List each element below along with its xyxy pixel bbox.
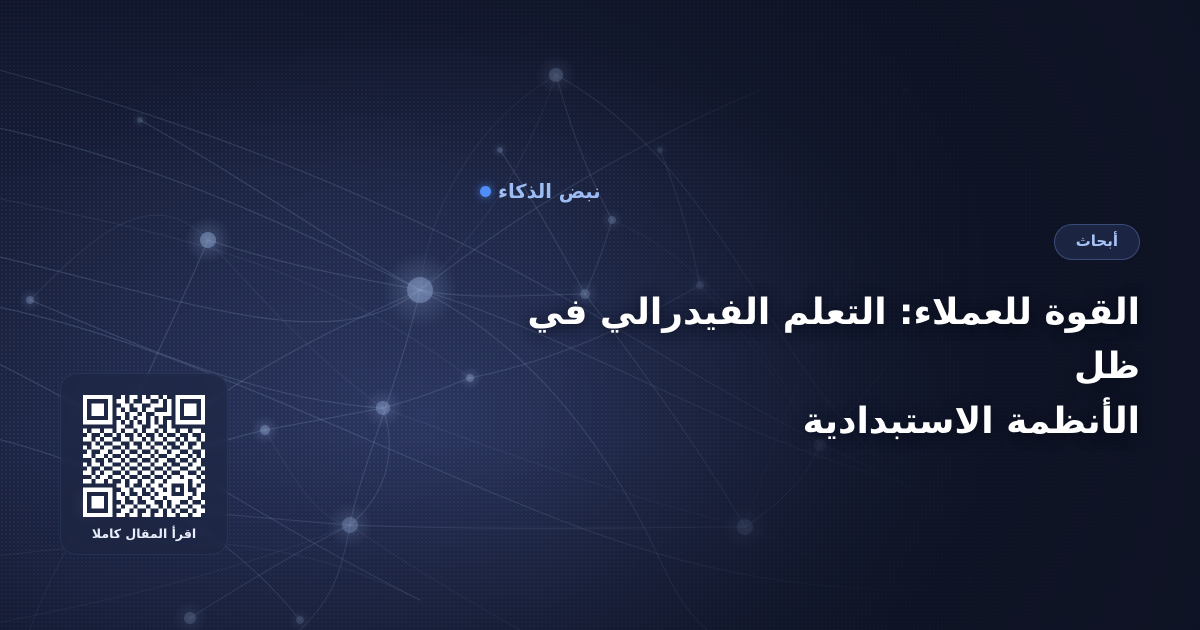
article-title-line-2: الأنظمة الاستبدادية [480,395,1140,450]
article-title: القوة للعملاء: التعلم الفيدرالي في ظل ال… [480,286,1140,450]
social-share-card: نبض الذكاء أبحاث القوة للعملاء: التعلم ا… [0,0,1200,630]
qr-code-image[interactable] [83,395,205,517]
qr-code-card[interactable]: اقرأ المقال كاملا [60,373,228,555]
brand-name: نبض الذكاء [498,182,601,202]
article-title-line-1: القوة للعملاء: التعلم الفيدرالي في ظل [480,286,1140,395]
brand-lockup: نبض الذكاء [480,182,1140,202]
qr-caption: اقرأ المقال كاملا [92,528,196,541]
brand-dot-icon [480,186,491,197]
category-badge[interactable]: أبحاث [1054,224,1140,260]
content-column: نبض الذكاء أبحاث القوة للعملاء: التعلم ا… [480,182,1140,450]
